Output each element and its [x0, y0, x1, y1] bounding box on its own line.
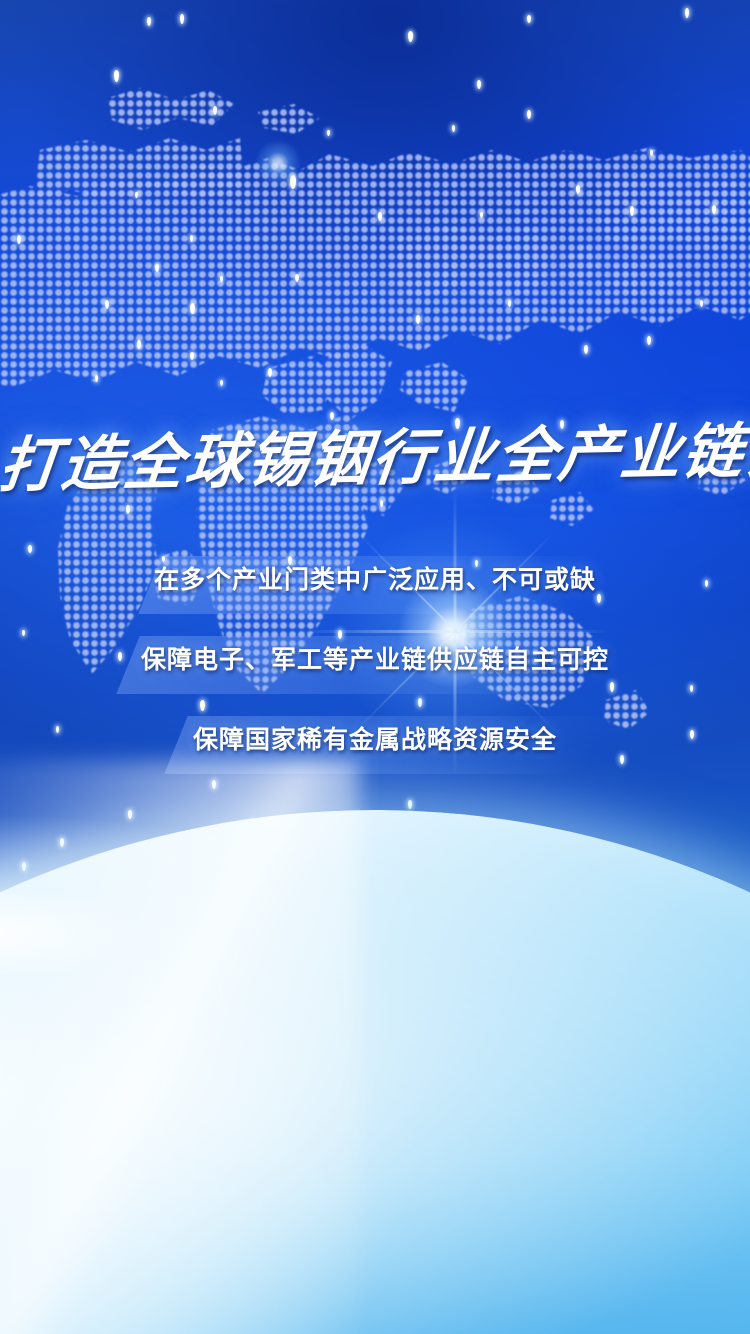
earth-sphere	[0, 810, 750, 1334]
bullet-line-1: 在多个产业门类中广泛应用、不可或缺	[0, 563, 750, 597]
earth-cloud-bands	[0, 700, 750, 1334]
light-burst-secondary	[255, 140, 301, 186]
bullet-line-3: 保障国家稀有金属战略资源安全	[0, 723, 750, 757]
earth-horizon	[0, 700, 750, 1334]
poster-canvas: 打造全球锡铟行业全产业链链主 在多个产业门类中广泛应用、不可或缺 保障电子、军工…	[0, 0, 750, 1334]
bullet-line-2: 保障电子、军工等产业链供应链自主可控	[0, 643, 750, 677]
page-title: 打造全球锡铟行业全产业链链主	[0, 411, 750, 507]
